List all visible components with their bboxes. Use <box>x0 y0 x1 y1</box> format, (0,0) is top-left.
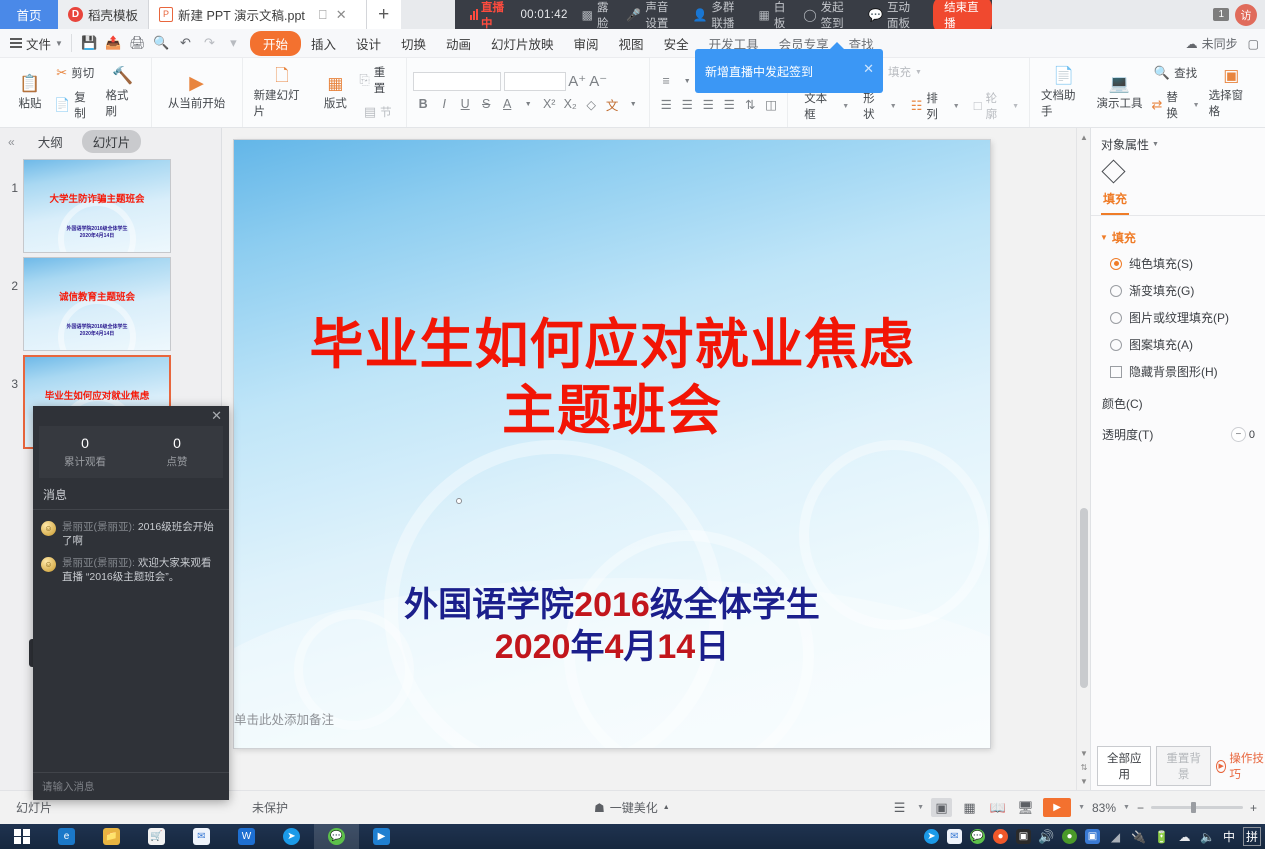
chat-message-body: 景丽亚(景丽亚): 2016级班会开始了啊 <box>62 520 220 548</box>
taskbar-item-store[interactable]: 🛒 <box>134 824 179 849</box>
clipboard-icon: 📋 <box>19 75 40 93</box>
zoom-in-button[interactable]: + <box>1250 801 1257 815</box>
menu-bar-right: ☁ 未同步 ▢ <box>1186 29 1259 58</box>
location-pin-icon: ◯ <box>803 9 816 21</box>
tab-docer-label: 稻壳模板 <box>88 5 138 24</box>
tab-outline[interactable]: 大纲 <box>27 130 74 153</box>
new-tab-button[interactable]: + <box>367 0 401 29</box>
redo-icon[interactable]: ↷ <box>199 33 220 53</box>
tab-slides[interactable]: 幻灯片 <box>82 130 142 153</box>
microsoft-store-icon: 🛒 <box>148 828 165 845</box>
bullet-list-button[interactable]: ≡ <box>656 71 676 91</box>
menu-item-slideshow[interactable]: 幻灯片放映 <box>481 31 564 56</box>
chat-section-label: 消息 <box>33 478 229 510</box>
start-from-current-button[interactable]: ▶ 从当前开始 <box>158 73 236 113</box>
taskbar-item-qq-mail[interactable]: ✉ <box>179 824 224 849</box>
radio-icon <box>1110 258 1122 270</box>
subtitle-month: 4 <box>604 628 623 666</box>
font-size-select[interactable] <box>504 72 566 91</box>
subtitle-month-char: 月 <box>623 628 657 666</box>
shape-preview <box>1091 159 1265 187</box>
subtitle-suffix: 级全体学生 <box>650 586 820 624</box>
live-multicast-button[interactable]: 👤 多群联播 <box>685 0 751 29</box>
avatar: ☺ <box>41 521 56 536</box>
cut-button[interactable]: ✂ 剪切 <box>50 61 101 85</box>
thumbnail-subtitle-line1: 外国语学院2016级全体学生 <box>24 226 170 233</box>
find-label: 查找 <box>1174 65 1197 81</box>
live-toolbar: 直播中 00:01:42 ▩ 露脸 🎤 声音设置 👤 多群联播 ▦ 白板 ◯ 发… <box>455 0 992 29</box>
outline-view-icon[interactable]: ☰ <box>889 798 910 817</box>
ime-mode-label[interactable]: 拼 <box>1243 827 1261 846</box>
signal-bars-icon <box>470 9 478 20</box>
font-color-button[interactable]: A <box>497 94 517 114</box>
subtitle-year-char: 年 <box>570 628 604 666</box>
live-signin-label: 发起签到 <box>821 0 854 31</box>
fill-section-label: 填充 <box>1112 229 1136 246</box>
menu-item-review[interactable]: 审阅 <box>564 31 609 56</box>
tab-home[interactable]: 首页 <box>0 0 58 29</box>
mail-tray-icon[interactable]: ✉ <box>947 829 962 844</box>
live-timer: 00:01:42 <box>513 0 574 29</box>
slide-subtitle-line2: 2020年4月14日 <box>264 626 960 668</box>
tooltip-new-signin: 新增直播中发起签到 ✕ <box>695 49 883 93</box>
live-chat-panel: ✕ 0 累计观看 0 点赞 消息 ☺ 景丽亚(景丽亚): 2016级班会开始了啊… <box>33 406 229 800</box>
outline-label: 轮廓 <box>986 90 1009 122</box>
undo-icon[interactable]: ↶ <box>175 33 196 53</box>
battery-icon[interactable]: 🔋 <box>1154 829 1169 844</box>
stat-likes: 0 点赞 <box>131 426 223 478</box>
slide-title-line1: 毕业生如何应对就业焦虑 <box>264 312 960 378</box>
operation-tips-label: 操作技巧 <box>1229 750 1265 782</box>
subscript-button[interactable]: X₂ <box>560 94 580 114</box>
arrange-icon: ☷ <box>911 97 923 115</box>
zoom-dropdown-icon[interactable]: ▼ <box>1123 804 1130 811</box>
taskbar-item-video-app[interactable]: ▶ <box>359 824 404 849</box>
taskbar-item-wechat[interactable]: 💬 <box>314 824 359 849</box>
slide-subtitle-line1: 外国语学院2016级全体学生 <box>264 584 960 626</box>
close-icon[interactable]: ✕ <box>211 408 222 424</box>
tab-docer[interactable]: D 稻壳模板 <box>58 0 149 29</box>
properties-tabs: 填充 <box>1091 187 1265 216</box>
option-picture-texture-fill-label: 图片或纹理填充(P) <box>1129 309 1229 326</box>
thumbnail-subtitle-line1: 外国语学院2016级全体学生 <box>24 324 170 331</box>
screen-tray-icon[interactable]: ▣ <box>1016 829 1031 844</box>
object-properties-title: 对象属性 ▼ <box>1091 134 1265 159</box>
ribbon-group-tools: 📄 文档助手 💻 演示工具 🔍 查找 ⇄ 替换 ▼ ▣ 选 <box>1030 58 1265 127</box>
notes-view-icon[interactable]: 🖥 <box>1015 798 1036 817</box>
chat-message-body: 景丽亚(景丽亚): 欢迎大家来观看直播 “2016级主题班会”。 <box>62 556 220 584</box>
notes-placeholder[interactable]: 单击此处添加备注 <box>234 709 334 728</box>
speaker-icon[interactable]: 🔈 <box>1200 829 1215 844</box>
option-picture-texture-fill[interactable]: 图片或纹理填充(P) <box>1091 304 1265 331</box>
grow-font-button[interactable]: A⁺ <box>567 71 587 91</box>
replace-dropdown-icon[interactable]: ▼ <box>1193 102 1200 109</box>
tab-presentation[interactable]: P 新建 PPT 演示文稿.ppt ⎕ ✕ <box>149 0 367 29</box>
outline-icon: □ <box>974 97 982 115</box>
thumbnail-title: 毕业生如何应对就业焦虑 <box>25 388 169 402</box>
selection-pane-icon: ▣ <box>1223 67 1239 85</box>
option-gradient-fill[interactable]: 渐变填充(G) <box>1091 277 1265 304</box>
avatar: ☺ <box>41 557 56 572</box>
stat-likes-value: 0 <box>173 435 181 451</box>
live-signin-button[interactable]: ◯ 发起签到 <box>796 0 861 29</box>
qq-tray-icon[interactable]: ➤ <box>924 829 939 844</box>
chevron-up-icon: ▲ <box>663 804 670 811</box>
option-hide-background-graphics-label: 隐藏背景图形(H) <box>1129 363 1218 380</box>
beautify-button[interactable]: ☗ 一键美化 ▲ <box>594 799 670 816</box>
radio-icon <box>1110 339 1122 351</box>
text-box-label: 文本框 <box>804 90 838 122</box>
color-label: 颜色(C) <box>1102 395 1143 412</box>
slide-editor[interactable]: 毕业生如何应对就业焦虑 主题班会 外国语学院2016级全体学生 2020年4月1… <box>234 140 990 748</box>
status-slide-info: 幻灯片 <box>6 799 62 816</box>
window-controls: 1 访 <box>1213 0 1265 29</box>
print-icon[interactable]: 🖨 <box>127 33 148 53</box>
taskbar-item-wps[interactable]: W <box>224 824 269 849</box>
thumbnail-subtitle: 外国语学院2016级全体学生 2020年4月14日 <box>24 324 170 338</box>
canvas-scrollbar[interactable]: ▲ ▼ ⇅ ▼ <box>1076 128 1090 790</box>
title-tab-bar: 首页 D 稻壳模板 P 新建 PPT 演示文稿.ppt ⎕ ✕ + 直播中 00… <box>0 0 1265 29</box>
tooltip-text: 新增直播中发起签到 <box>705 63 813 80</box>
ribbon-group-present: ▶ 从当前开始 <box>152 58 243 127</box>
object-properties-pane: 对象属性 ▼ 填充 ▼ 填充 纯色填充(S) 渐变填充(G) 图片或纹理填充(P… <box>1090 128 1265 790</box>
menu-item-insert[interactable]: 插入 <box>301 31 346 56</box>
zoom-value[interactable]: 83% <box>1092 801 1116 815</box>
reset-label: 重置 <box>374 64 396 96</box>
chat-message: ☺ 景丽亚(景丽亚): 欢迎大家来观看直播 “2016级主题班会”。 <box>33 552 229 588</box>
reset-background-button[interactable]: 重置背景 <box>1156 746 1210 786</box>
underline-button[interactable]: U <box>455 94 475 114</box>
save-as-icon[interactable]: 📤 <box>103 33 124 53</box>
text-box-dropdown-icon[interactable]: ▼ <box>842 103 849 110</box>
arrange-label: 排列 <box>926 90 948 122</box>
slide-title[interactable]: 毕业生如何应对就业焦虑 主题班会 <box>264 312 960 444</box>
live-status-label: 直播中 <box>481 0 506 31</box>
reading-view-icon[interactable]: 📖 <box>987 798 1008 817</box>
edge-icon: e <box>58 828 75 845</box>
file-explorer-icon: 📁 <box>103 828 120 845</box>
replace-label: 替换 <box>1166 89 1188 121</box>
zoom-out-button[interactable]: − <box>1137 801 1144 815</box>
thumbnail-title: 诚信教育主题班会 <box>24 289 170 303</box>
ribbon-group-slides: 🗋 新建幻灯片 ▦ 版式 ⎘ 重置 ▤ 节 <box>243 58 408 127</box>
present-tools-label: 演示工具 <box>1096 95 1142 111</box>
thumbnail-item[interactable]: 1 大学生防诈骗主题班会 外国语学院2016级全体学生 2020年4月14日 <box>0 155 221 253</box>
menu-item-start[interactable]: 开始 <box>250 31 301 56</box>
tab-fill[interactable]: 填充 <box>1101 187 1129 215</box>
slide-subtitle[interactable]: 外国语学院2016级全体学生 2020年4月14日 <box>264 584 960 668</box>
format-painter-button[interactable]: 🔨 格式刷 <box>101 65 145 121</box>
tab-home-label: 首页 <box>16 5 41 24</box>
copy-icon: 📄 <box>54 96 70 114</box>
search-icon: 🔍 <box>1154 64 1170 82</box>
outline-dropdown-icon[interactable]: ▼ <box>1012 103 1019 110</box>
subtitle-year: 2020 <box>495 628 571 666</box>
view-dropdown-icon[interactable]: ▼ <box>917 804 924 811</box>
menu-item-transition[interactable]: 切换 <box>391 31 436 56</box>
menu-bar: 文件 ▼ 💾 📤 🖨 🔍 ↶ ↷ ▾ 开始 插入 设计 切换 动画 幻灯片放映 … <box>0 29 1265 58</box>
arrange-button[interactable]: ☷ 排列 ▼ <box>907 87 964 125</box>
next-slide-icon[interactable]: ▼ <box>1077 774 1090 788</box>
replace-button[interactable]: ⇄ 替换 ▼ <box>1147 86 1203 124</box>
play-slideshow-button[interactable]: ▶ <box>1043 798 1071 817</box>
status-protect[interactable]: 未保护 <box>242 799 298 816</box>
ribbon-toolbar: 📋 粘贴 ✂ 剪切 📄 复制 🔨 格式刷 ▶ <box>0 58 1265 128</box>
thumbnail-number: 3 <box>4 355 18 391</box>
fill-label: 填充 <box>888 64 911 80</box>
thumbnail-slide-1[interactable]: 大学生防诈骗主题班会 外国语学院2016级全体学生 2020年4月14日 <box>23 159 171 253</box>
zoom-slider-knob[interactable] <box>1191 802 1196 813</box>
thumbnail-item[interactable]: 2 诚信教育主题班会 外国语学院2016级全体学生 2020年4月14日 <box>0 253 221 351</box>
apply-all-button[interactable]: 全部应用 <box>1097 746 1151 786</box>
thumbnail-subtitle-line2: 2020年4月14日 <box>24 233 170 240</box>
section-button[interactable]: ▤ 节 <box>355 100 400 124</box>
hamburger-icon <box>10 38 22 48</box>
italic-button[interactable]: I <box>434 94 454 114</box>
minus-icon[interactable]: − <box>1231 427 1246 442</box>
thumbnail-number: 1 <box>4 159 18 195</box>
play-circle-icon: ▶ <box>189 75 204 93</box>
chat-message-list: ☺ 景丽亚(景丽亚): 2016级班会开始了啊 ☺ 景丽亚(景丽亚): 欢迎大家… <box>33 510 229 772</box>
share-button[interactable]: ▢ <box>1248 37 1259 51</box>
section-label: 节 <box>380 104 392 120</box>
font-color-dropdown-icon[interactable]: ▼ <box>518 94 538 114</box>
option-pattern-fill-label: 图案填充(A) <box>1129 336 1193 353</box>
chat-stats: 0 累计观看 0 点赞 <box>39 426 223 478</box>
selection-handle[interactable] <box>456 498 462 504</box>
live-status: 直播中 <box>463 0 513 29</box>
replace-icon: ⇄ <box>1151 96 1162 114</box>
stat-total-views: 0 累计观看 <box>39 426 131 478</box>
hide-tray-icon[interactable]: ◢ <box>1108 829 1123 844</box>
stat-total-views-value: 0 <box>81 435 89 451</box>
monitor-icon[interactable]: ⎕ <box>319 7 327 23</box>
menu-item-animation[interactable]: 动画 <box>436 31 481 56</box>
new-slide-button[interactable]: 🗋 新建幻灯片 <box>249 65 316 121</box>
align-right-button[interactable]: ☰ <box>698 94 718 114</box>
clear-format-button[interactable]: ◇ <box>581 94 601 114</box>
windows-taskbar: e 📁 🛒 ✉ W ➤ 💬 ▶ ➤ ✉ 💬 ● ▣ 🔊 ● ▣ ◢ 🔌 🔋 ☁ … <box>0 824 1265 849</box>
video-app-icon: ▶ <box>373 828 390 845</box>
thumbnail-title: 大学生防诈骗主题班会 <box>24 191 170 205</box>
sync-status-label: 未同步 <box>1202 35 1238 52</box>
status-bar-left: 幻灯片 未保护 <box>0 799 298 816</box>
present-tools-button[interactable]: 💻 演示工具 <box>1091 73 1147 113</box>
selection-pane-button[interactable]: ▣ 选择窗格 <box>1204 65 1259 121</box>
wifi-icon[interactable]: ☁ <box>1177 829 1192 844</box>
fill-dropdown-icon[interactable]: ▼ <box>915 69 922 76</box>
transparency-label: 透明度(T) <box>1102 426 1153 443</box>
text-effect-button[interactable]: 文 <box>602 94 622 114</box>
paste-button[interactable]: 📋 粘贴 <box>10 73 50 113</box>
live-panel-label: 互动面板 <box>887 0 920 31</box>
live-whiteboard-label: 白板 <box>774 0 789 31</box>
chat-message-name: 景丽亚(景丽亚): <box>62 521 135 533</box>
layout-button[interactable]: ▦ 版式 <box>315 73 355 113</box>
play-dropdown-icon[interactable]: ▼ <box>1078 804 1085 811</box>
slide-title-line2: 主题班会 <box>264 378 960 444</box>
find-button[interactable]: 🔍 查找 <box>1147 61 1203 85</box>
zoom-slider[interactable] <box>1151 806 1243 809</box>
paintbrush-icon: 🔨 <box>112 67 133 85</box>
normal-view-icon[interactable]: ▣ <box>931 798 952 817</box>
doc-assistant-button[interactable]: 📄 文档助手 <box>1036 65 1091 121</box>
beautify-icon: ☗ <box>594 801 605 815</box>
option-solid-fill[interactable]: 纯色填充(S) <box>1091 250 1265 277</box>
taskbar-item-edge[interactable]: e <box>44 824 89 849</box>
windows-start-icon[interactable] <box>0 824 44 849</box>
cut-label: 剪切 <box>71 65 94 81</box>
chevron-down-icon[interactable]: ▼ <box>1152 141 1159 148</box>
section-icon: ▤ <box>364 103 376 121</box>
scroll-down-icon[interactable]: ▼ <box>1077 746 1090 760</box>
layout-icon: ▦ <box>327 75 343 93</box>
shrink-font-button[interactable]: A⁻ <box>588 71 608 91</box>
quick-access-toolbar: 💾 📤 🖨 🔍 ↶ ↷ ▾ <box>71 34 244 52</box>
sync-status[interactable]: ☁ 未同步 <box>1186 35 1238 52</box>
columns-button[interactable]: ◫ <box>761 94 781 114</box>
format-painter-label: 格式刷 <box>106 87 140 119</box>
doc-assistant-icon: 📄 <box>1053 67 1074 85</box>
subtitle-prefix: 外国语学院 <box>404 586 574 624</box>
close-icon[interactable]: ✕ <box>863 61 874 77</box>
strikethrough-button[interactable]: S <box>476 94 496 114</box>
ribbon-group-clipboard: 📋 粘贴 ✂ 剪切 📄 复制 🔨 格式刷 <box>4 58 152 127</box>
bold-button[interactable]: B <box>413 94 433 114</box>
window-count-badge[interactable]: 1 <box>1213 8 1229 21</box>
outline-button[interactable]: □ 轮廓 ▼ <box>970 87 1023 125</box>
checkbox-icon <box>1110 366 1122 378</box>
reset-button[interactable]: ⎘ 重置 <box>355 61 400 99</box>
close-icon[interactable]: ✕ <box>336 7 347 23</box>
transparency-field[interactable]: 透明度(T) − 0 <box>1091 416 1265 447</box>
layout-label: 版式 <box>324 95 347 111</box>
chat-message-name: 景丽亚(景丽亚): <box>62 557 135 569</box>
align-left-button[interactable]: ☰ <box>656 94 676 114</box>
transparency-stepper[interactable]: − 0 <box>1231 427 1255 442</box>
menu-item-view[interactable]: 视图 <box>609 31 654 56</box>
live-audio-button[interactable]: 🎤 声音设置 <box>619 0 685 29</box>
line-spacing-button[interactable]: ⇅ <box>740 94 760 114</box>
thumbnail-pane-header: « 大纲 幻灯片 <box>0 128 221 155</box>
chat-input[interactable]: 请输入消息 <box>33 772 229 800</box>
live-camera-label: 露脸 <box>597 0 612 31</box>
app-window: 首页 D 稻壳模板 P 新建 PPT 演示文稿.ppt ⎕ ✕ + 直播中 00… <box>0 0 1265 849</box>
avatar[interactable]: 访 <box>1235 4 1257 26</box>
font-name-select[interactable] <box>413 72 501 91</box>
copy-label: 复制 <box>74 89 96 121</box>
menu-item-design[interactable]: 设计 <box>346 31 391 56</box>
microphone-icon: 🎤 <box>626 9 641 21</box>
taskbar-item-qq[interactable]: ➤ <box>269 824 314 849</box>
slide-sorter-icon[interactable]: ▦ <box>959 798 980 817</box>
security-tray-icon[interactable]: ● <box>993 829 1008 844</box>
selection-pane-label: 选择窗格 <box>1209 87 1254 119</box>
prev-slide-icon[interactable]: ⇅ <box>1077 760 1090 774</box>
operation-tips-link[interactable]: ▶ 操作技巧 <box>1216 750 1265 782</box>
cloud-icon: ☁ <box>1186 37 1198 51</box>
menu-item-security[interactable]: 安全 <box>654 31 699 56</box>
shape-dropdown-icon[interactable]: ▼ <box>890 103 897 110</box>
fill-section-header[interactable]: ▼ 填充 <box>1091 216 1265 250</box>
shape-icon <box>1101 159 1125 183</box>
arrange-dropdown-icon[interactable]: ▼ <box>953 103 960 110</box>
present-tools-icon: 💻 <box>1109 75 1130 93</box>
tab-tools: ⎕ ✕ <box>310 7 356 23</box>
copy-button[interactable]: 📄 复制 <box>50 86 101 124</box>
option-pattern-fill[interactable]: 图案填充(A) <box>1091 331 1265 358</box>
live-audio-label: 声音设置 <box>645 0 678 31</box>
thumbnail-subtitle-line2: 2020年4月14日 <box>24 331 170 338</box>
chat-titlebar: ✕ <box>33 406 229 426</box>
tab-presentation-label: 新建 PPT 演示文稿.ppt <box>178 5 305 24</box>
file-menu-label: 文件 <box>26 34 51 53</box>
subtitle-day: 14 <box>657 628 695 666</box>
ribbon-group-font: A⁺ A⁻ B I U S A ▼ X² X₂ ◇ 文 ▼ <box>407 58 650 127</box>
taskbar-item-file-explorer[interactable]: 📁 <box>89 824 134 849</box>
live-multicast-label: 多群联播 <box>711 0 744 31</box>
option-solid-fill-label: 纯色填充(S) <box>1129 255 1193 272</box>
save-icon[interactable]: 💾 <box>79 33 100 53</box>
print-preview-icon[interactable]: 🔍 <box>151 33 172 53</box>
object-properties-label: 对象属性 <box>1101 136 1149 153</box>
align-center-button[interactable]: ☰ <box>677 94 697 114</box>
customize-icon[interactable]: ▾ <box>223 33 244 53</box>
chevron-down-icon: ▼ <box>1100 233 1108 242</box>
start-from-current-label: 从当前开始 <box>168 95 226 111</box>
ppt-file-icon: P <box>159 7 173 22</box>
wps-icon: W <box>238 828 255 845</box>
system-tray: ➤ ✉ 💬 ● ▣ 🔊 ● ▣ ◢ 🔌 🔋 ☁ 🔈 中 拼 <box>924 827 1261 846</box>
new-slide-label: 新建幻灯片 <box>254 87 311 119</box>
scrollbar-thumb[interactable] <box>1080 508 1088 688</box>
radio-icon <box>1110 312 1122 324</box>
scissors-icon: ✂ <box>56 64 67 82</box>
volume-red-icon[interactable]: 🔊 <box>1039 829 1054 844</box>
live-whiteboard-button[interactable]: ▦ 白板 <box>752 0 797 29</box>
wechat-icon: 💬 <box>328 828 345 845</box>
camera-icon: ▩ <box>582 9 593 21</box>
wechat-tray-icon[interactable]: 💬 <box>970 829 985 844</box>
radio-icon <box>1110 285 1122 297</box>
live-panel-button[interactable]: 💬 互动面板 <box>861 0 927 29</box>
color-field[interactable]: 颜色(C) <box>1091 385 1265 416</box>
option-gradient-fill-label: 渐变填充(G) <box>1129 282 1194 299</box>
transparency-value: 0 <box>1249 429 1255 441</box>
thumbnail-number: 2 <box>4 257 18 293</box>
file-menu-button[interactable]: 文件 ▼ <box>0 34 71 53</box>
scroll-up-icon[interactable]: ▲ <box>1077 130 1090 144</box>
shape-label: 形状 <box>863 90 886 122</box>
blue-tray-icon[interactable]: ▣ <box>1085 829 1100 844</box>
superscript-button[interactable]: X² <box>539 94 559 114</box>
chat-message: ☺ 景丽亚(景丽亚): 2016级班会开始了啊 <box>33 516 229 552</box>
text-effect-dropdown-icon[interactable]: ▼ <box>623 94 643 114</box>
doc-assistant-label: 文档助手 <box>1041 87 1086 119</box>
whiteboard-icon: ▦ <box>759 9 770 21</box>
thumbnail-subtitle: 外国语学院2016级全体学生 2020年4月14日 <box>24 226 170 240</box>
green-tray-icon[interactable]: ● <box>1062 829 1077 844</box>
ime-label[interactable]: 中 <box>1223 828 1235 845</box>
live-camera-button[interactable]: ▩ 露脸 <box>575 0 620 29</box>
stat-likes-label: 点赞 <box>167 454 188 469</box>
justify-button[interactable]: ☰ <box>719 94 739 114</box>
collapse-icon[interactable]: « <box>4 135 19 149</box>
option-hide-background-graphics[interactable]: 隐藏背景图形(H) <box>1091 358 1265 385</box>
qq-icon: ➤ <box>283 828 300 845</box>
usb-icon[interactable]: 🔌 <box>1131 829 1146 844</box>
thumbnail-slide-2[interactable]: 诚信教育主题班会 外国语学院2016级全体学生 2020年4月14日 <box>23 257 171 351</box>
